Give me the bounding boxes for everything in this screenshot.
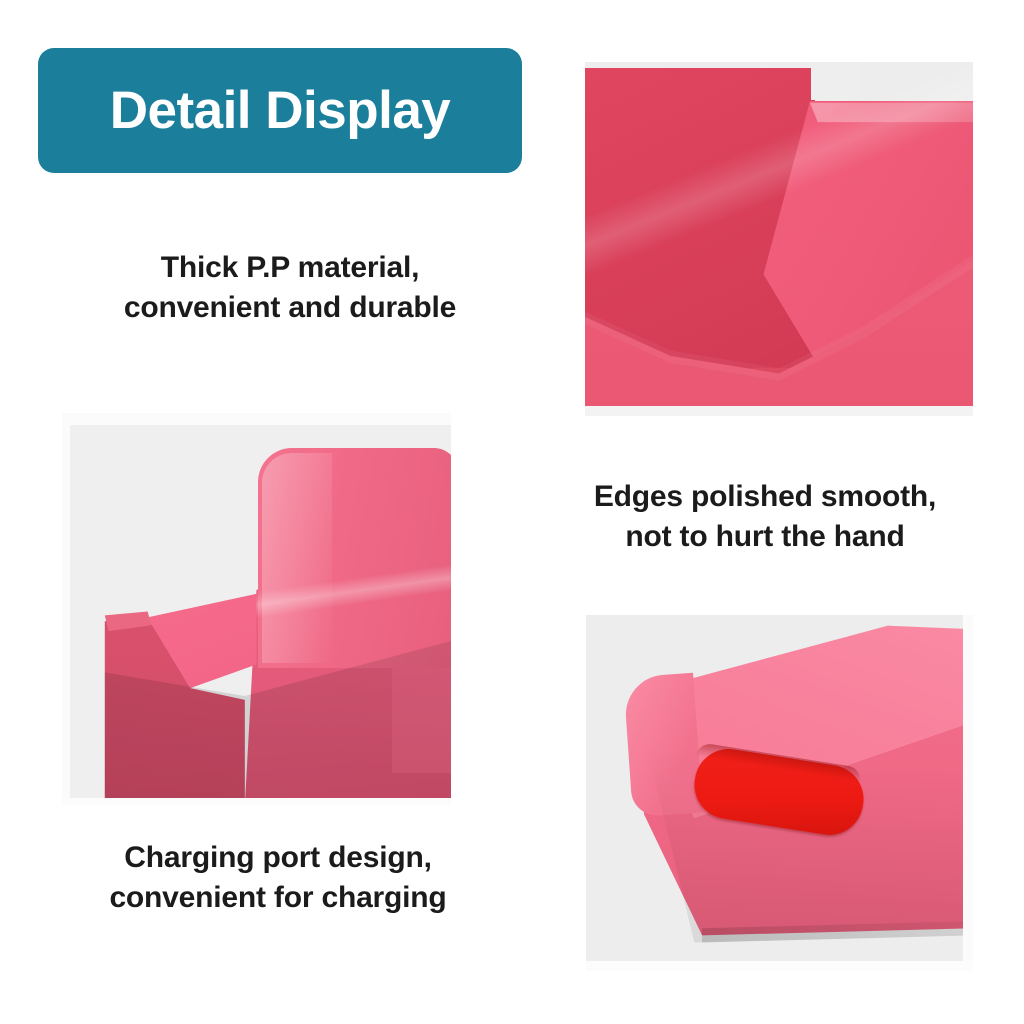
photo-bottom-margin [585,406,973,416]
photo-left-margin [62,413,70,806]
box-surface-sheen [585,62,973,416]
caption-edges-line-2: not to hurt the hand [540,517,990,557]
product-photo-side-view [62,413,451,806]
photo-inner-corner-content [585,62,973,416]
photo-charging-port-content [586,615,973,971]
photo-side-view-content [62,413,451,806]
caption-charging-line-1: Charging port design, [28,838,528,878]
product-photo-charging-port [586,615,973,971]
photo-bottom-margin [62,798,451,806]
caption-charging-line-2: convenient for charging [28,878,528,918]
caption-charging-port: Charging port design, convenient for cha… [28,838,528,918]
photo-bottom-margin [586,961,973,971]
caption-thick-pp-material: Thick P.P material, convenient and durab… [40,248,540,328]
detail-display-banner: Detail Display [38,48,522,173]
caption-material-line-2: convenient and durable [40,288,540,328]
product-photo-inner-corner [585,62,973,416]
page-title: Detail Display [110,84,451,137]
photo-right-margin [963,615,973,971]
caption-material-line-1: Thick P.P material, [40,248,540,288]
caption-edges-line-1: Edges polished smooth, [540,477,990,517]
caption-edges-polished: Edges polished smooth, not to hurt the h… [540,477,990,557]
photo-top-margin [62,413,451,425]
